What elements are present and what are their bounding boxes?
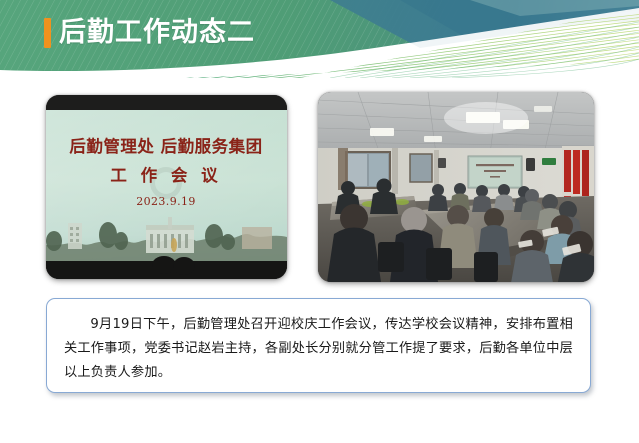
wall-speaker bbox=[438, 158, 446, 168]
wall-projection-screen bbox=[468, 156, 522, 188]
page-title-group: 后勤工作动态二 bbox=[44, 18, 255, 48]
page-title: 后勤工作动态二 bbox=[59, 18, 255, 48]
exit-sign bbox=[542, 158, 556, 165]
caption-textbox: 9月19日下午，后勤管理处召开迎校庆工作会议，传达学校会议精神，安排布置相关工作… bbox=[46, 298, 591, 393]
title-accent-bar bbox=[44, 18, 51, 48]
svg-text:2023.9.19: 2023.9.19 bbox=[136, 195, 196, 208]
window-right-far bbox=[410, 154, 432, 182]
column bbox=[392, 148, 398, 194]
meeting-room-photo bbox=[318, 92, 594, 282]
svg-text:后勤管理处 后勤服务集团: 后勤管理处 后勤服务集团 bbox=[69, 136, 262, 156]
caption-text: 9月19日下午，后勤管理处召开迎校庆工作会议，传达学校会议精神，安排布置相关工作… bbox=[64, 313, 573, 385]
wall-speaker bbox=[526, 158, 535, 171]
column bbox=[434, 150, 439, 190]
header-banner: 后勤工作动态二 bbox=[0, 0, 639, 78]
svg-text:工 作 会 议: 工 作 会 议 bbox=[110, 165, 221, 185]
meeting-screen-photo: 后勤管理处 后勤服务集团 工 作 会 议 2023.9.19 bbox=[46, 95, 287, 279]
